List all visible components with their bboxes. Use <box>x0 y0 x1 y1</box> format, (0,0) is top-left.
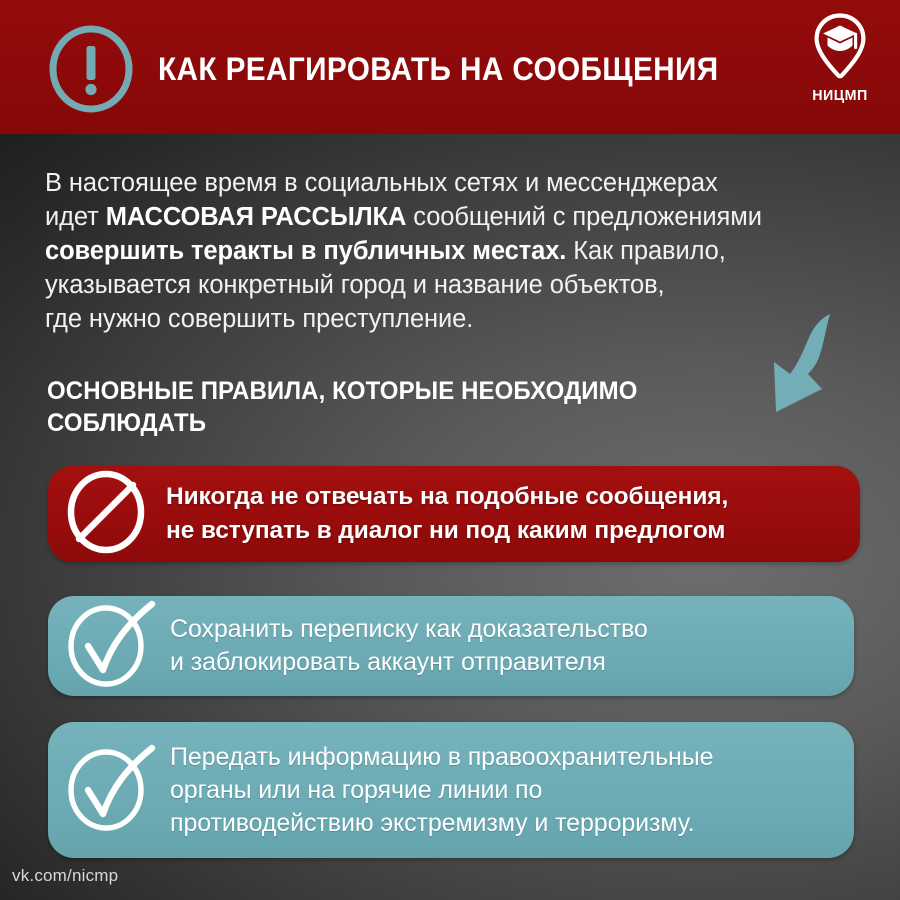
brand-logo: НИЦМП <box>794 12 886 104</box>
check-circle-icon <box>62 742 156 839</box>
intro-line-4: указывается конкретный город и название … <box>45 271 665 299</box>
rule-3-line-1: Передать информацию в правоохранительные <box>170 743 713 771</box>
rule-3-line-2: органы или на горячие линии по <box>170 776 542 804</box>
rule-1-line-1: Никогда не отвечать на подобные сообщени… <box>166 483 728 510</box>
rule-card-text: Никогда не отвечать на подобные сообщени… <box>166 480 728 548</box>
rule-card-text: Передать информацию в правоохранительные… <box>170 741 713 840</box>
rule-card-save-and-block: Сохранить переписку как доказательство и… <box>48 596 854 696</box>
intro-line-2-suffix: сообщений с предложениями <box>406 203 762 231</box>
intro-line-3-suffix: Как правило, <box>566 237 725 265</box>
header-banner: КАК РЕАГИРОВАТЬ НА СООБЩЕНИЯ НИЦМП <box>0 0 900 134</box>
map-pin-graduation-cap-logo <box>794 12 886 85</box>
intro-emphasis-attacks: совершить теракты в публичных местах. <box>45 237 566 265</box>
rule-2-line-1: Сохранить переписку как доказательство <box>170 615 648 643</box>
rules-heading-line-2: СОБЛЮДАТЬ <box>47 409 206 437</box>
brand-name: НИЦМП <box>796 87 883 104</box>
rule-card-report-to-authorities: Передать информацию в правоохранительные… <box>48 722 854 858</box>
intro-paragraph: В настоящее время в социальных сетях и м… <box>45 166 815 336</box>
page-title: КАК РЕАГИРОВАТЬ НА СООБЩЕНИЯ <box>158 53 719 85</box>
rule-card-text: Сохранить переписку как доказательство и… <box>170 613 648 679</box>
rule-1-line-2: не вступать в диалог ни под каким предло… <box>166 517 725 544</box>
prohibition-sign-icon <box>62 467 150 562</box>
exclamation-circle-icon <box>47 25 135 113</box>
intro-line-2-prefix: идет <box>45 203 106 231</box>
rules-heading: ОСНОВНЫЕ ПРАВИЛА, КОТОРЫЕ НЕОБХОДИМО СОБ… <box>47 375 757 439</box>
curved-arrow-down-left-icon <box>762 312 882 416</box>
rule-card-never-reply: Никогда не отвечать на подобные сообщени… <box>48 466 860 562</box>
intro-line-5: где нужно совершить преступление. <box>45 305 473 333</box>
intro-line-1: В настоящее время в социальных сетях и м… <box>45 169 718 197</box>
rules-heading-line-1: ОСНОВНЫЕ ПРАВИЛА, КОТОРЫЕ НЕОБХОДИМО <box>47 377 638 405</box>
infographic-poster: КАК РЕАГИРОВАТЬ НА СООБЩЕНИЯ НИЦМП В нас… <box>0 0 900 900</box>
intro-emphasis-mass-mailing: МАССОВАЯ РАССЫЛКА <box>106 203 407 231</box>
rule-3-line-3: противодействию экстремизму и терроризму… <box>170 809 695 837</box>
rule-2-line-2: и заблокировать аккаунт отправителя <box>170 648 606 676</box>
footer-link[interactable]: vk.com/nicmp <box>12 866 118 886</box>
check-circle-icon <box>62 598 156 695</box>
